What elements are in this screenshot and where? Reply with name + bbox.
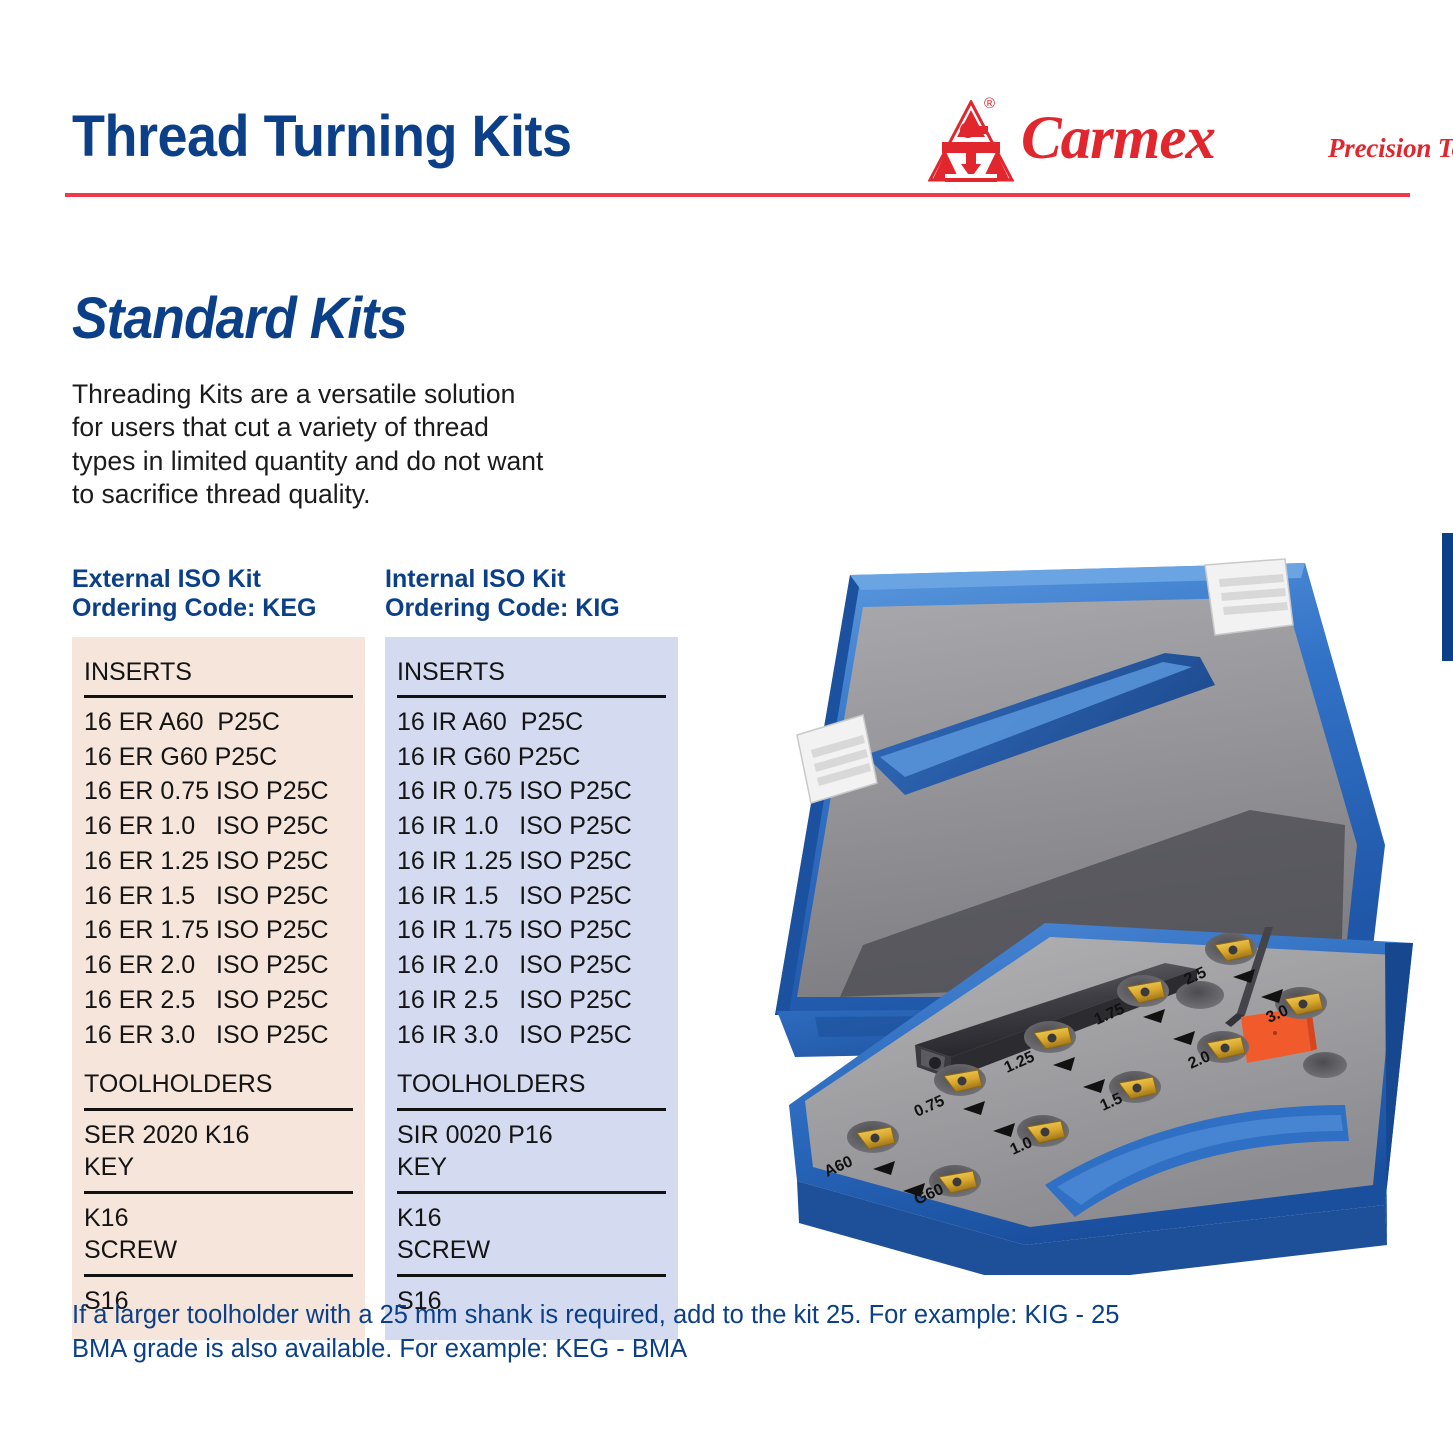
group-items: K16 [385, 1201, 678, 1236]
list-item: 16 IR 2.0 ISO P25C [397, 948, 678, 983]
group-items: SER 2020 K16 [72, 1118, 365, 1153]
group-divider [84, 1108, 353, 1111]
list-item: 16 ER 1.25 ISO P25C [84, 844, 365, 879]
product-photo: A60 G60 0.75 1.0 1.25 1.5 1.75 2.0 2.5 3… [745, 545, 1435, 1275]
group-items: 16 IR A60 P25C 16 IR G60 P25C 16 IR 0.75… [385, 705, 678, 1053]
kit-heading-internal: Internal ISO Kit Ordering Code: KIG [385, 565, 678, 624]
list-item: 16 ER G60 P25C [84, 740, 365, 775]
kit-heading-line: External ISO Kit [72, 565, 365, 594]
kit-group-toolholders: TOOLHOLDERS SIR 0020 P16 [385, 1069, 678, 1152]
page-title: Thread Turning Kits [72, 108, 572, 166]
list-item: 16 ER 2.5 ISO P25C [84, 983, 365, 1018]
intro-line: Threading Kits are a versatile solution [72, 378, 632, 411]
kit-heading-line: Internal ISO Kit [385, 565, 678, 594]
carmex-triangle-logo-icon [928, 100, 1014, 184]
list-item: SER 2020 K16 [84, 1118, 365, 1153]
group-divider [84, 1274, 353, 1277]
group-items: 16 ER A60 P25C 16 ER G60 P25C 16 ER 0.75… [72, 705, 365, 1053]
footnote-line: BMA grade is also available. For example… [72, 1332, 1252, 1366]
kit-group-toolholders: TOOLHOLDERS SER 2020 K16 [72, 1069, 365, 1152]
group-items: K16 [72, 1201, 365, 1236]
group-label: TOOLHOLDERS [72, 1069, 365, 1103]
list-item: 16 IR 1.75 ISO P25C [397, 913, 678, 948]
list-item: 16 IR 1.0 ISO P25C [397, 809, 678, 844]
intro-line: types in limited quantity and do not wan… [72, 445, 632, 478]
group-label: SCREW [72, 1235, 365, 1269]
group-label: KEY [72, 1152, 365, 1186]
list-item: 16 IR 1.5 ISO P25C [397, 879, 678, 914]
group-divider [397, 1274, 666, 1277]
list-item: 16 IR 3.0 ISO P25C [397, 1018, 678, 1053]
list-item: SIR 0020 P16 [397, 1118, 678, 1153]
kit-group-key: KEY K16 [385, 1152, 678, 1235]
insert-1.75 [1117, 975, 1169, 1007]
title-divider [65, 193, 1410, 197]
kit-column-external: External ISO Kit Ordering Code: KEG INSE… [72, 565, 365, 1340]
intro-line: for users that cut a variety of thread [72, 411, 632, 444]
group-divider [397, 695, 666, 698]
group-divider [397, 1108, 666, 1111]
kit-heading-external: External ISO Kit Ordering Code: KEG [72, 565, 365, 624]
group-label: INSERTS [385, 657, 678, 691]
list-item: K16 [397, 1201, 678, 1236]
page-side-tab [1442, 533, 1453, 661]
group-label: INSERTS [72, 657, 365, 691]
insert-2.5 [1205, 933, 1257, 965]
list-item: 16 ER 1.5 ISO P25C [84, 879, 365, 914]
group-label: KEY [385, 1152, 678, 1186]
empty-pocket [1303, 1052, 1347, 1078]
brand-name: Carmex [1021, 108, 1215, 169]
group-items: SIR 0020 P16 [385, 1118, 678, 1153]
intro-line: to sacrifice thread quality. [72, 478, 632, 511]
group-label: SCREW [385, 1235, 678, 1269]
registered-trademark-icon: ® [984, 95, 995, 112]
kit-column-internal: Internal ISO Kit Ordering Code: KIG INSE… [385, 565, 678, 1340]
kit-group-key: KEY K16 [72, 1152, 365, 1235]
insert-1.25 [1024, 1021, 1076, 1053]
list-item: 16 IR 1.25 ISO P25C [397, 844, 678, 879]
group-divider [397, 1191, 666, 1194]
list-item: 16 ER 1.75 ISO P25C [84, 913, 365, 948]
brand-logo: ® Carmex Precision Tools Ltd. [928, 95, 1428, 190]
case-latch-right[interactable] [1205, 559, 1293, 635]
group-divider [84, 1191, 353, 1194]
kit-group-inserts: INSERTS 16 ER A60 P25C 16 ER G60 P25C 16… [72, 657, 365, 1053]
list-item: 16 ER 2.0 ISO P25C [84, 948, 365, 983]
kit-heading-line: Ordering Code: KEG [72, 594, 365, 623]
spacer [385, 1052, 678, 1069]
section-title: Standard Kits [72, 290, 407, 348]
threading-kit-case-illustration: A60 G60 0.75 1.0 1.25 1.5 1.75 2.0 2.5 3… [745, 545, 1435, 1275]
kit-heading-line: Ordering Code: KIG [385, 594, 678, 623]
list-item: 16 IR 0.75 ISO P25C [397, 774, 678, 809]
group-label: TOOLHOLDERS [385, 1069, 678, 1103]
intro-paragraph: Threading Kits are a versatile solution … [72, 378, 632, 512]
kit-panel-internal: INSERTS 16 IR A60 P25C 16 IR G60 P25C 16… [385, 637, 678, 1341]
footnote: If a larger toolholder with a 25 mm shan… [72, 1298, 1252, 1367]
insert-0.75 [934, 1064, 986, 1096]
list-item: K16 [84, 1201, 365, 1236]
kit-group-inserts: INSERTS 16 IR A60 P25C 16 IR G60 P25C 16… [385, 657, 678, 1053]
group-divider [84, 695, 353, 698]
list-item: 16 IR 2.5 ISO P25C [397, 983, 678, 1018]
list-item: 16 IR G60 P25C [397, 740, 678, 775]
list-item: 16 ER A60 P25C [84, 705, 365, 740]
list-item: 16 ER 0.75 ISO P25C [84, 774, 365, 809]
spacer [72, 1052, 365, 1069]
brand-tagline: Precision Tools Ltd. [1328, 135, 1453, 162]
empty-pocket [1176, 981, 1224, 1009]
list-item: 16 IR A60 P25C [397, 705, 678, 740]
insert-A60 [847, 1121, 899, 1153]
list-item: 16 ER 1.0 ISO P25C [84, 809, 365, 844]
footnote-line: If a larger toolholder with a 25 mm shan… [72, 1298, 1252, 1332]
list-item: 16 ER 3.0 ISO P25C [84, 1018, 365, 1053]
kit-panel-external: INSERTS 16 ER A60 P25C 16 ER G60 P25C 16… [72, 637, 365, 1341]
